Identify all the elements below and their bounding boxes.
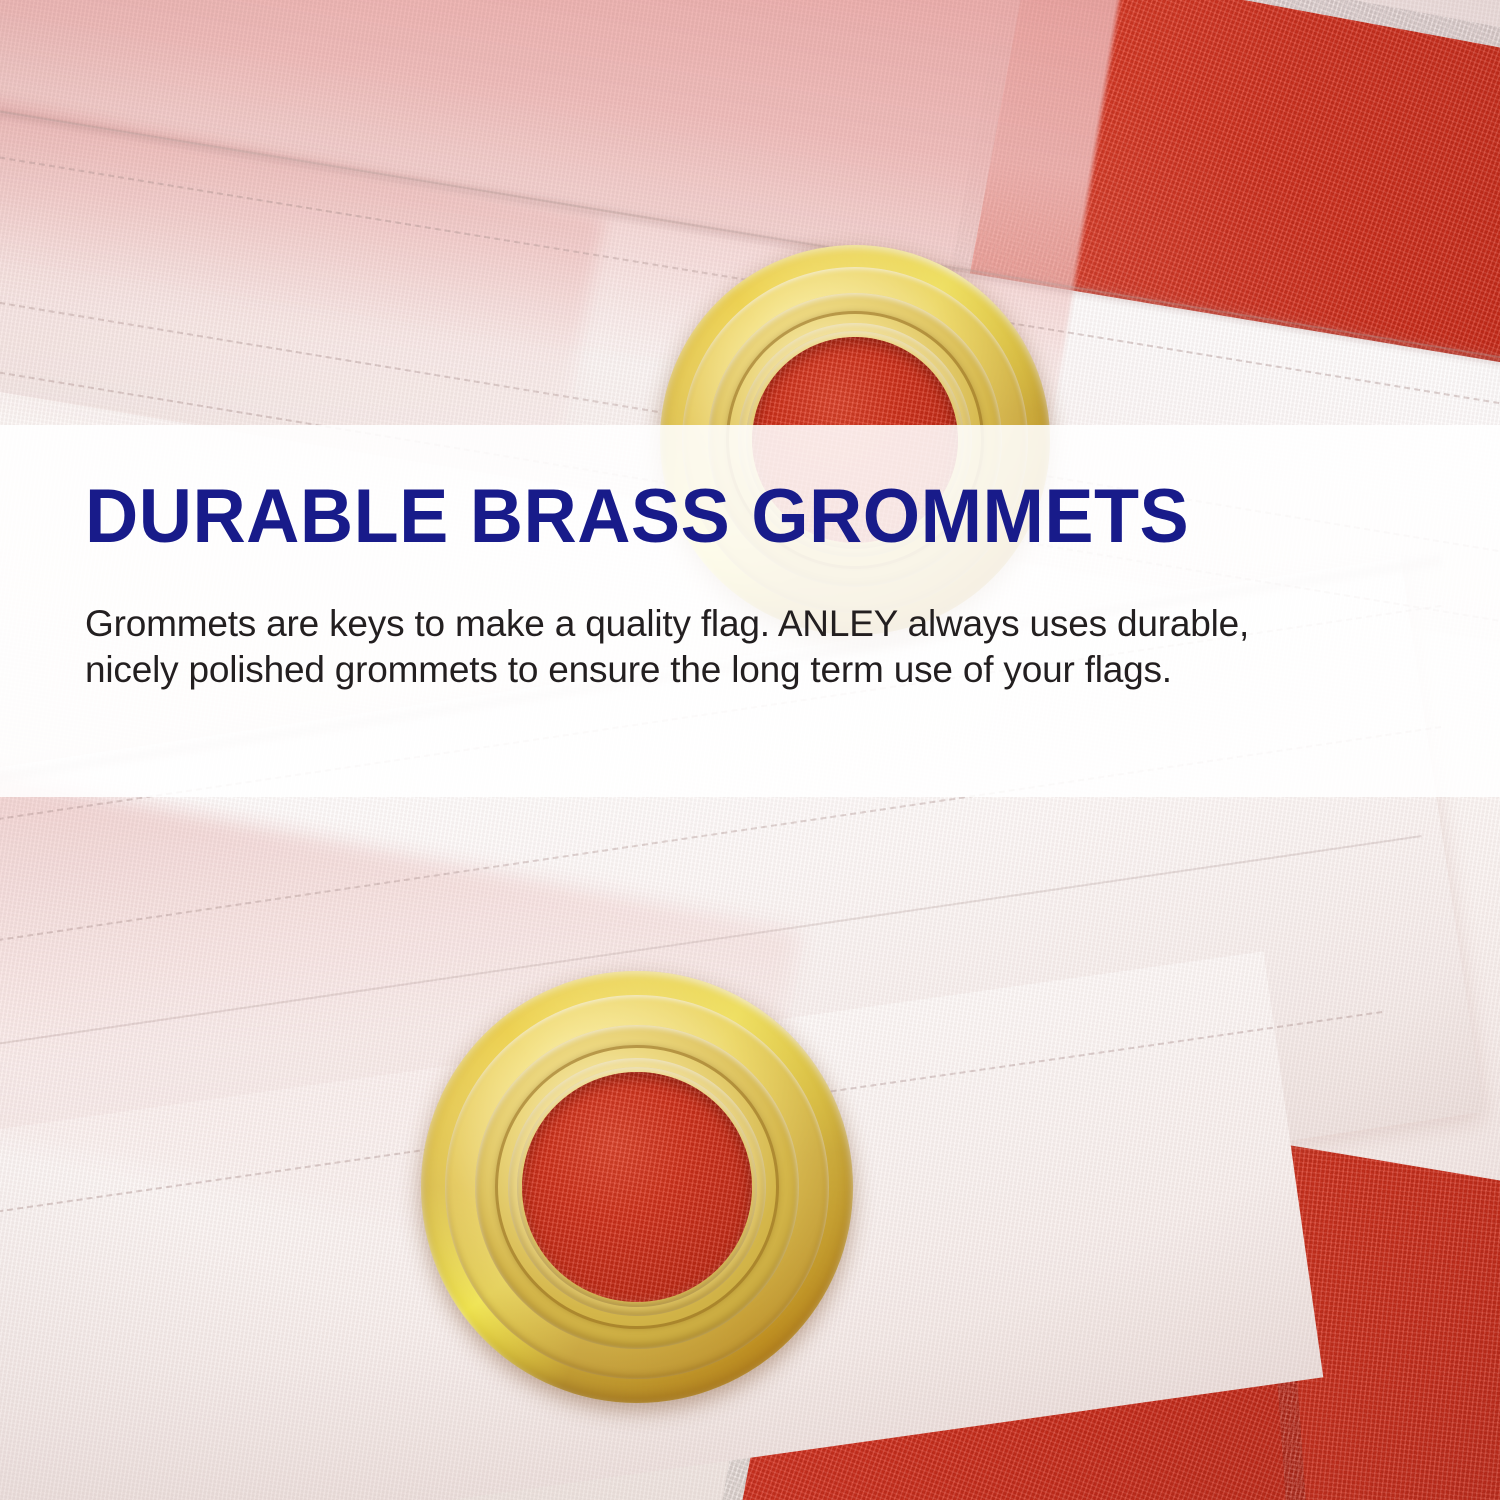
product-feature-image: DURABLE BRASS GROMMETS Grommets are keys… bbox=[0, 0, 1500, 1500]
bottom-grommet-hole-fabric-texture bbox=[522, 1072, 752, 1302]
bottom-grommet bbox=[421, 971, 853, 1403]
bottom-grommet-hole bbox=[522, 1072, 752, 1302]
page-title: DURABLE BRASS GROMMETS bbox=[85, 479, 1189, 555]
feature-description: Grommets are keys to make a quality flag… bbox=[85, 601, 1330, 693]
